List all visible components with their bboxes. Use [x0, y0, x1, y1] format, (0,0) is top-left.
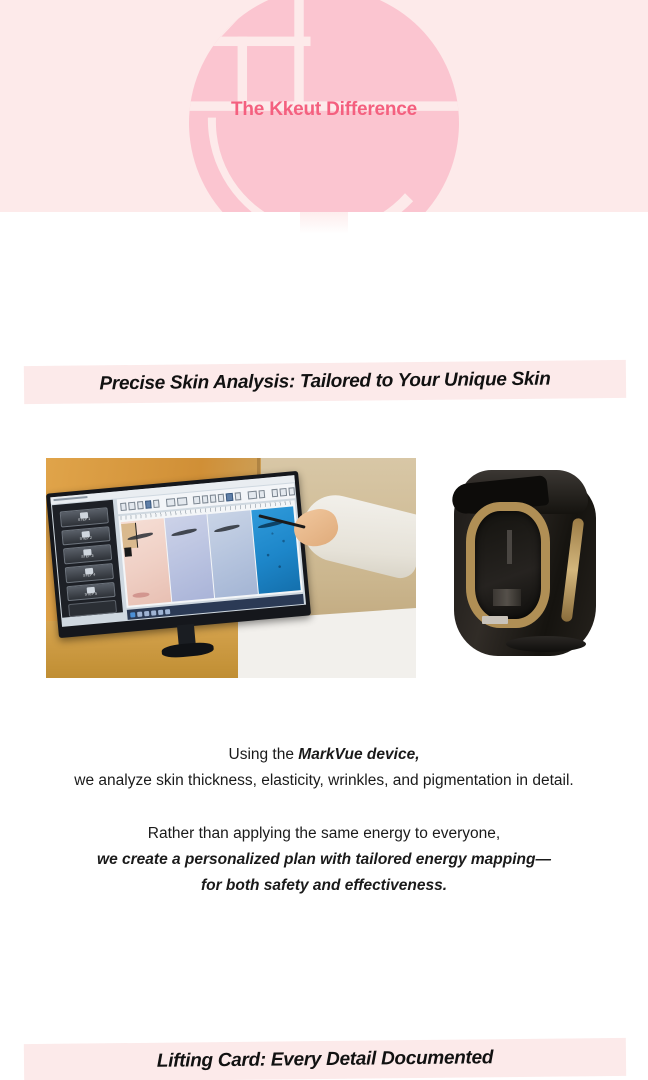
scan-feature-brow — [171, 528, 198, 538]
toolbar-icon — [153, 499, 160, 508]
device-inner-plate — [493, 589, 521, 606]
sidebar-item-step-3: STEP 3 — [63, 544, 112, 564]
copy-line-1-prefix: Using the — [229, 746, 299, 763]
toolbar-icon — [193, 495, 200, 504]
scan-feature-brow — [214, 524, 241, 534]
scan-panel-polarized-light — [208, 510, 258, 598]
section-banner-lifting-card: Lifting Card: Every Detail Documented — [24, 1038, 626, 1080]
monitor-bezel: STEP 1 STEP 2 STEP 3 STEP 4 STEP 5 — [46, 471, 311, 638]
copy-line-3: Rather than applying the same energy to … — [0, 821, 648, 847]
copy-paragraph-1: Using the MarkVue device, we analyze ski… — [0, 742, 648, 794]
section-banner-precise-skin-analysis: Precise Skin Analysis: Tailored to Your … — [24, 360, 626, 404]
toolbar-icon — [201, 495, 208, 504]
sidebar-item-step-5: STEP 5 — [66, 582, 115, 602]
scan-panel-normal-light — [121, 518, 171, 606]
toolbar-icon — [288, 487, 295, 496]
toolbar-icon — [120, 502, 127, 511]
page-title: The Kkeut Difference — [0, 99, 648, 121]
taskbar-icon — [158, 609, 163, 614]
monitor-analysis-photo: STEP 1 STEP 2 STEP 3 STEP 4 STEP 5 — [46, 458, 416, 678]
taskbar-icon — [165, 608, 170, 613]
media-row: STEP 1 STEP 2 STEP 3 STEP 4 STEP 5 — [0, 458, 648, 680]
device-base — [506, 636, 586, 652]
copy-line-4: we create a personalized plan with tailo… — [0, 847, 648, 873]
taskbar-start-icon — [130, 612, 135, 617]
markvue-device-photo — [430, 460, 628, 678]
copy-line-1-emphasis: MarkVue device, — [298, 746, 419, 763]
device-body — [454, 474, 596, 656]
copy-line-1: Using the MarkVue device, — [0, 742, 648, 768]
copy-paragraph-2: Rather than applying the same energy to … — [0, 821, 648, 899]
header-band: The Kkeut Difference — [0, 0, 648, 212]
copy-line-5: for both safety and effectiveness. — [0, 873, 648, 899]
taskbar-icon — [151, 610, 156, 615]
device-inner-rod — [507, 530, 512, 564]
device-gold-side-stripe — [561, 518, 585, 623]
copy-paragraph-spacer — [0, 794, 648, 821]
copy-line-2: we analyze skin thickness, elasticity, w… — [0, 768, 648, 794]
body-copy: Using the MarkVue device, we analyze ski… — [0, 742, 648, 899]
page-root: The Kkeut Difference Precise Skin Analys… — [0, 0, 648, 1080]
scan-panel-strip — [121, 506, 301, 605]
toolbar-icon — [280, 487, 287, 496]
taskbar-icon — [137, 611, 142, 616]
software-workspace — [118, 500, 302, 608]
toolbar-icon — [210, 494, 217, 503]
sidebar-item-step-2: STEP 2 — [61, 526, 110, 546]
toolbar-icon — [234, 492, 241, 501]
sidebar-item-step-1: STEP 1 — [59, 507, 108, 527]
toolbar-icon — [258, 489, 265, 498]
section-banner-lifting-label: Lifting Card: Every Detail Documented — [24, 1038, 626, 1080]
toolbar-icon — [218, 493, 225, 502]
monitor-screen: STEP 1 STEP 2 STEP 3 STEP 4 STEP 5 — [50, 475, 306, 627]
device-brand-label — [482, 616, 508, 624]
toolbar-icon — [247, 490, 257, 499]
toolbar-icon — [272, 488, 279, 497]
toolbar-icon-selected — [145, 500, 152, 509]
sidebar-item-step-4: STEP 4 — [64, 563, 113, 583]
header-tail-decoration — [300, 212, 348, 234]
sidebar-bottom-button — [68, 600, 117, 617]
section-banner-precise-label: Precise Skin Analysis: Tailored to Your … — [24, 360, 626, 404]
toolbar-icon — [166, 498, 176, 507]
scan-panel-uv-light — [164, 514, 214, 602]
software-step-sidebar: STEP 1 STEP 2 STEP 3 STEP 4 STEP 5 — [52, 500, 123, 618]
toolbar-icon — [137, 501, 144, 510]
device-gold-ring-face — [466, 502, 550, 628]
toolbar-icon-selected — [226, 492, 233, 501]
toolbar-icon — [128, 501, 135, 510]
toolbar-icon — [177, 497, 187, 506]
taskbar-icon — [144, 610, 149, 615]
scan-feature-lip — [133, 592, 150, 599]
